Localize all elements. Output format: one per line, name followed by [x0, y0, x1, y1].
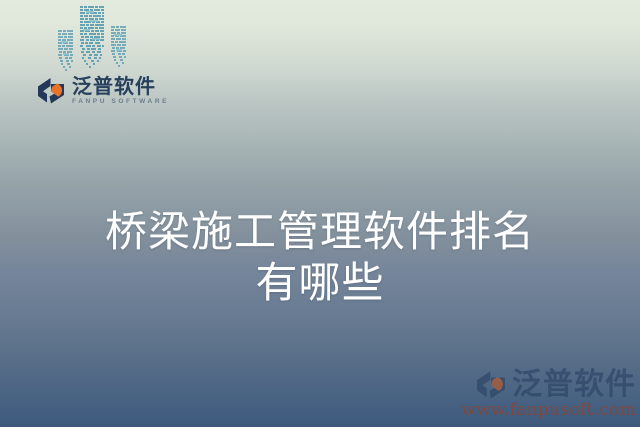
fanpu-logo-mark-icon: [474, 370, 508, 400]
page-title-line-1: 桥梁施工管理软件排名: [0, 206, 640, 257]
watermark-logo-row: 泛普软件: [461, 370, 636, 400]
brand-name-cn: 泛普软件: [72, 76, 169, 97]
fanpu-logo-mark-icon: [36, 77, 66, 105]
brand-wordmark: 泛普软件 FANPU SOFTWARE: [72, 76, 169, 106]
page-title-line-2: 有哪些: [0, 257, 640, 308]
watermark: 泛普软件 www.fanpusoft.com: [461, 370, 636, 419]
pixel-buildings-icon: [56, 0, 136, 76]
banner-image: 泛普软件 FANPU SOFTWARE 桥梁施工管理软件排名 有哪些 泛普软件 …: [0, 0, 640, 427]
watermark-url: www.fanpusoft.com: [461, 402, 636, 419]
page-title: 桥梁施工管理软件排名 有哪些: [0, 206, 640, 308]
brand-logo: 泛普软件 FANPU SOFTWARE: [36, 76, 169, 106]
brand-name-en: FANPU SOFTWARE: [72, 99, 169, 106]
watermark-name-cn: 泛普软件: [512, 370, 636, 400]
